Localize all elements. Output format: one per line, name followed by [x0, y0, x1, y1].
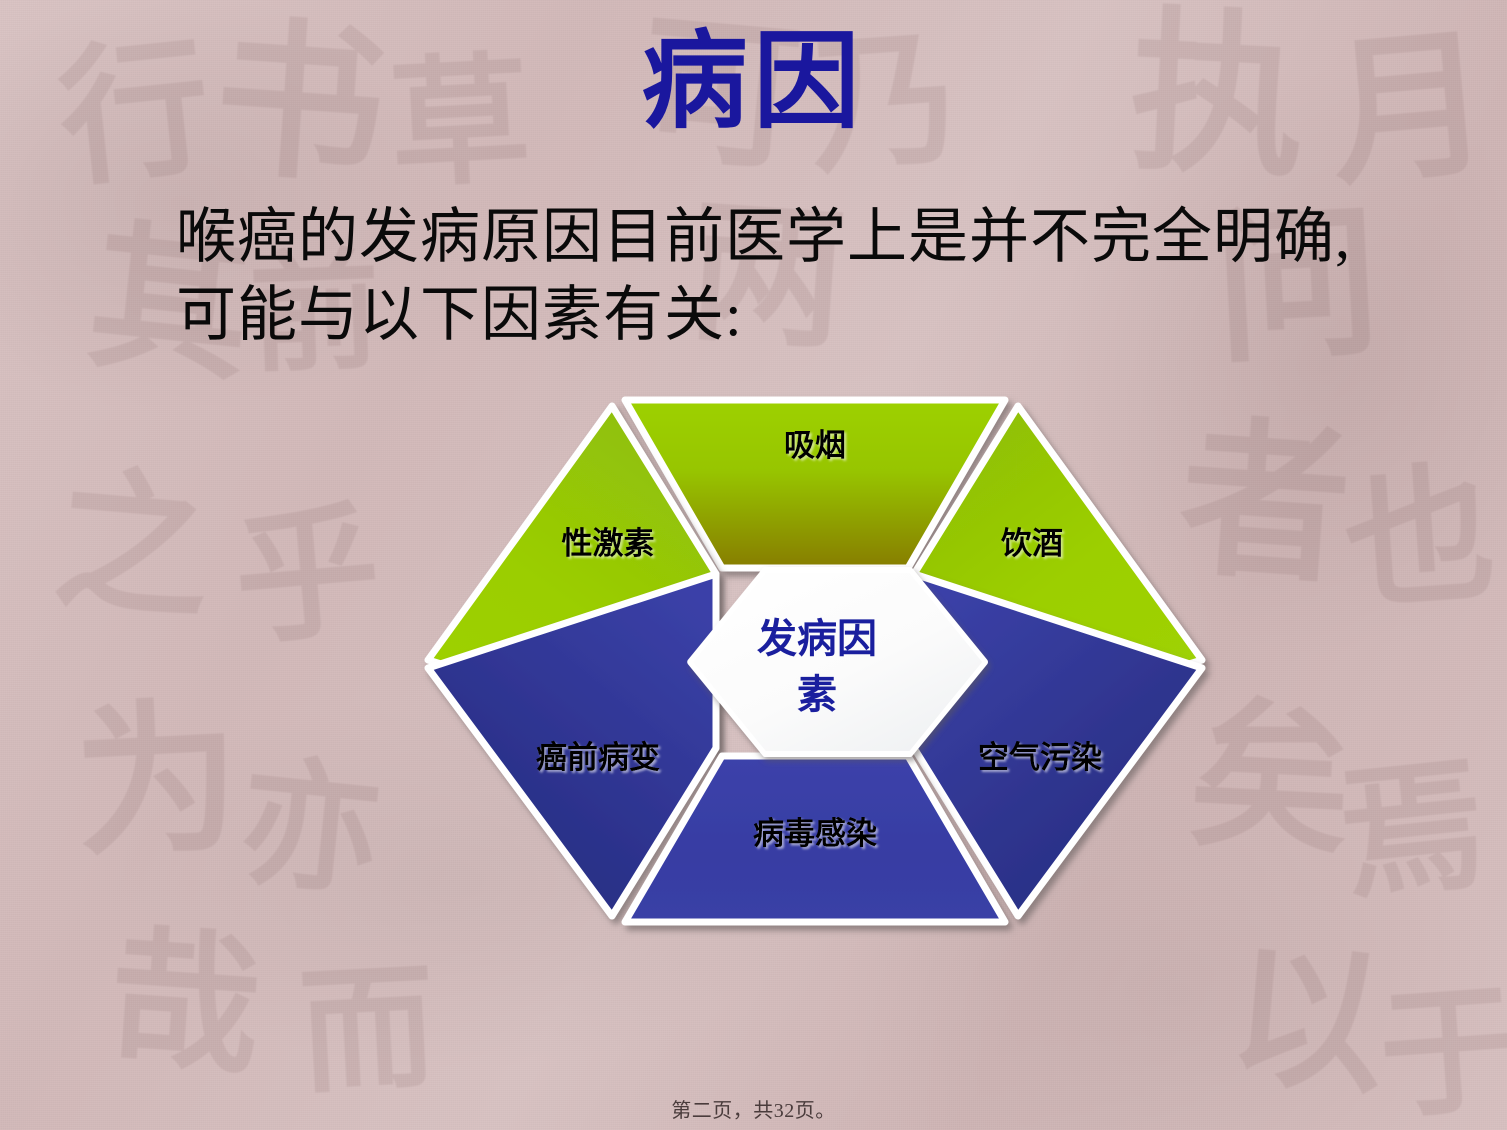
segment-precancerous-label: 癌前病变: [536, 740, 660, 775]
watermark-glyph: 之: [49, 464, 217, 632]
watermark-glyph: 哉: [105, 925, 265, 1085]
watermark-glyph: 焉: [1333, 753, 1492, 912]
watermark-glyph: 也: [1340, 460, 1500, 620]
page-title: 病因: [0, 24, 1507, 143]
segment-air-pollution-label: 空气污染: [978, 740, 1102, 775]
slide-footer-page-number: 第二页，共32页。: [0, 1094, 1507, 1123]
body-line-2: 可能与以下因素有关:: [176, 276, 1386, 354]
slide-canvas: 行书草可乃执月其前两问之乎者也为亦矣焉哉而以于 病因 喉癌的发病原因目前医学上是…: [0, 0, 1507, 1130]
watermark-glyph: 而: [297, 962, 439, 1104]
segment-virus-label: 病毒感染: [753, 816, 877, 851]
watermark-glyph: 亦: [233, 753, 387, 907]
segment-alcohol-label: 饮酒: [1000, 526, 1063, 561]
watermark-glyph: 乎: [229, 499, 386, 656]
segment-smoking-label: 吸烟: [784, 428, 846, 463]
segment-sex-hormone-label: 性激素: [562, 526, 655, 561]
body-line-1: 喉癌的发病原因目前医学上是并不完全明确,: [176, 198, 1386, 276]
body-paragraph: 喉癌的发病原因目前医学上是并不完全明确, 可能与以下因素有关:: [176, 198, 1386, 354]
watermark-glyph: 为: [71, 696, 244, 869]
hexagon-cycle-diagram: 吸烟 性激素 饮酒 癌前病变 空气污染: [400, 378, 1230, 938]
core-label-line-1: 发病因: [757, 617, 877, 661]
watermark-glyph: 以: [1224, 939, 1392, 1107]
core-label-line-2: 素: [797, 673, 837, 717]
